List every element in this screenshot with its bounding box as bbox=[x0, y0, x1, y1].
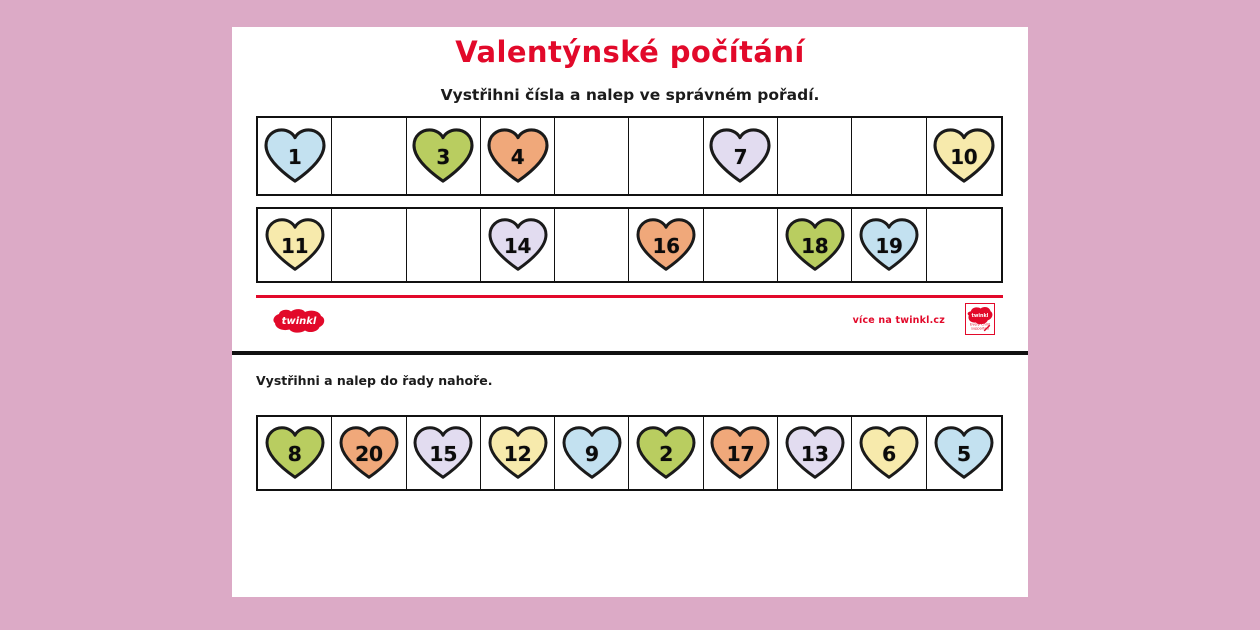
grid-cell-heart[interactable]: 15 bbox=[407, 417, 481, 489]
heart-number: 15 bbox=[412, 425, 474, 481]
heart-number: 20 bbox=[338, 425, 400, 481]
grid-cell-empty[interactable] bbox=[927, 209, 1001, 281]
twinkl-badge-icon[interactable]: twinkl Every Child supported bbox=[965, 303, 995, 335]
heart-icon: 15 bbox=[412, 425, 474, 481]
grid-cell-empty[interactable] bbox=[407, 209, 481, 281]
grid-cell-heart[interactable]: 12 bbox=[481, 417, 555, 489]
footer-link[interactable]: více na twinkl.cz bbox=[853, 315, 945, 326]
number-grid-row-2: 1114161819 bbox=[256, 207, 1003, 283]
heart-icon: 1 bbox=[263, 127, 327, 185]
grid-cell-heart[interactable]: 13 bbox=[778, 417, 852, 489]
heart-icon: 19 bbox=[858, 217, 920, 273]
heart-number: 5 bbox=[933, 425, 995, 481]
worksheet-footer: twinkl více na twinkl.cz twinkl Every Ch… bbox=[256, 295, 1003, 345]
heart-icon: 17 bbox=[709, 425, 771, 481]
grid-cell-heart[interactable]: 10 bbox=[927, 118, 1001, 194]
grid-cell-empty[interactable] bbox=[555, 118, 629, 194]
grid-cell-empty[interactable] bbox=[555, 209, 629, 281]
heart-number: 18 bbox=[784, 217, 846, 273]
page-title: Valentýnské počítání bbox=[232, 35, 1028, 69]
heart-number: 3 bbox=[411, 127, 475, 185]
heart-number: 12 bbox=[487, 425, 549, 481]
worksheet-page: Valentýnské počítání Vystřihni čísla a n… bbox=[232, 27, 1028, 597]
grid-cell-heart[interactable]: 11 bbox=[258, 209, 332, 281]
heart-icon: 8 bbox=[264, 425, 326, 481]
grid-cell-empty[interactable] bbox=[629, 118, 703, 194]
grid-cell-heart[interactable]: 7 bbox=[704, 118, 778, 194]
grid-cell-heart[interactable]: 3 bbox=[407, 118, 481, 194]
heart-icon: 7 bbox=[708, 127, 772, 185]
heart-number: 11 bbox=[264, 217, 326, 273]
page-subtitle: Vystřihni čísla a nalep ve správném pořa… bbox=[232, 86, 1028, 104]
grid-cell-heart[interactable]: 4 bbox=[481, 118, 555, 194]
heart-number: 8 bbox=[264, 425, 326, 481]
heart-icon: 14 bbox=[487, 217, 549, 273]
heart-icon: 4 bbox=[486, 127, 550, 185]
heart-icon: 20 bbox=[338, 425, 400, 481]
heart-number: 10 bbox=[932, 127, 996, 185]
heart-number: 9 bbox=[561, 425, 623, 481]
heart-number: 19 bbox=[858, 217, 920, 273]
grid-cell-heart[interactable]: 5 bbox=[927, 417, 1001, 489]
heart-icon: 2 bbox=[635, 425, 697, 481]
heart-icon: 13 bbox=[784, 425, 846, 481]
grid-cell-empty[interactable] bbox=[704, 209, 778, 281]
heart-number: 2 bbox=[635, 425, 697, 481]
heart-icon: 6 bbox=[858, 425, 920, 481]
grid-cell-heart[interactable]: 6 bbox=[852, 417, 926, 489]
grid-cell-heart[interactable]: 8 bbox=[258, 417, 332, 489]
grid-cell-empty[interactable] bbox=[852, 118, 926, 194]
heart-icon: 9 bbox=[561, 425, 623, 481]
cutout-strip: 820151292171365 bbox=[256, 415, 1003, 491]
heart-number: 17 bbox=[709, 425, 771, 481]
heart-number: 14 bbox=[487, 217, 549, 273]
grid-cell-heart[interactable]: 17 bbox=[704, 417, 778, 489]
svg-text:Every Child: Every Child bbox=[970, 322, 990, 326]
grid-cell-heart[interactable]: 9 bbox=[555, 417, 629, 489]
grid-cell-heart[interactable]: 20 bbox=[332, 417, 406, 489]
twinkl-logo-icon[interactable]: twinkl bbox=[272, 308, 326, 334]
grid-cell-heart[interactable]: 14 bbox=[481, 209, 555, 281]
heart-number: 4 bbox=[486, 127, 550, 185]
heart-icon: 10 bbox=[932, 127, 996, 185]
svg-text:twinkl: twinkl bbox=[972, 313, 989, 319]
number-grid-row-1: 134710 bbox=[256, 116, 1003, 196]
heart-icon: 11 bbox=[264, 217, 326, 273]
grid-cell-heart[interactable]: 19 bbox=[852, 209, 926, 281]
heart-number: 13 bbox=[784, 425, 846, 481]
grid-cell-heart[interactable]: 2 bbox=[629, 417, 703, 489]
footer-divider-rule bbox=[256, 295, 1003, 298]
heart-number: 6 bbox=[858, 425, 920, 481]
heart-icon: 3 bbox=[411, 127, 475, 185]
grid-cell-empty[interactable] bbox=[332, 209, 406, 281]
section-divider bbox=[232, 351, 1028, 355]
grid-cell-heart[interactable]: 18 bbox=[778, 209, 852, 281]
heart-number: 16 bbox=[635, 217, 697, 273]
heart-icon: 18 bbox=[784, 217, 846, 273]
grid-cell-empty[interactable] bbox=[778, 118, 852, 194]
grid-cell-empty[interactable] bbox=[332, 118, 406, 194]
heart-number: 1 bbox=[263, 127, 327, 185]
grid-cell-heart[interactable]: 1 bbox=[258, 118, 332, 194]
svg-text:twinkl: twinkl bbox=[282, 316, 317, 327]
grid-cell-heart[interactable]: 16 bbox=[629, 209, 703, 281]
heart-icon: 16 bbox=[635, 217, 697, 273]
heart-icon: 5 bbox=[933, 425, 995, 481]
bottom-instruction-text: Vystřihni a nalep do řady nahoře. bbox=[256, 373, 492, 388]
heart-number: 7 bbox=[708, 127, 772, 185]
heart-icon: 12 bbox=[487, 425, 549, 481]
worksheet-top-section: Valentýnské počítání Vystřihni čísla a n… bbox=[232, 27, 1028, 352]
